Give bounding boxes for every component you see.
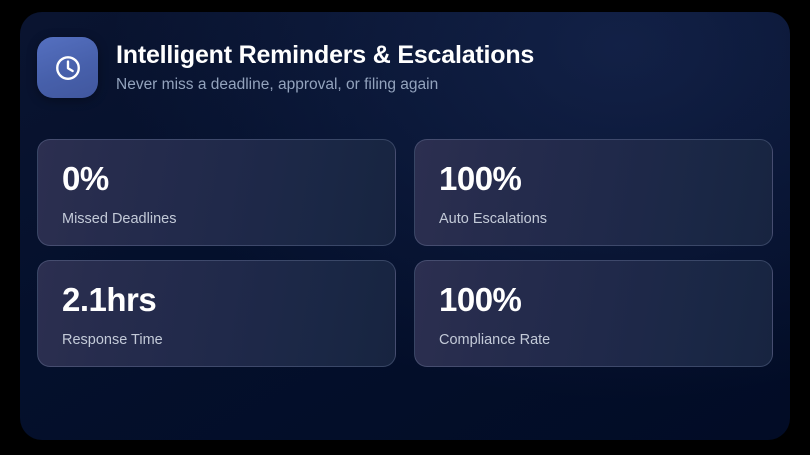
screen: Intelligent Reminders & Escalations Neve… xyxy=(0,0,810,455)
stat-card-missed-deadlines[interactable]: 0% Missed Deadlines xyxy=(37,139,396,246)
page-subtitle: Never miss a deadline, approval, or fili… xyxy=(116,76,534,95)
header-text-block: Intelligent Reminders & Escalations Neve… xyxy=(116,37,534,94)
stats-grid: 0% Missed Deadlines 100% Auto Escalation… xyxy=(37,139,773,367)
panel-header: Intelligent Reminders & Escalations Neve… xyxy=(37,37,534,98)
stat-label: Compliance Rate xyxy=(439,332,772,349)
stat-card-response-time[interactable]: 2.1hrs Response Time xyxy=(37,260,396,367)
stat-label: Auto Escalations xyxy=(439,211,772,228)
stat-card-compliance-rate[interactable]: 100% Compliance Rate xyxy=(414,260,773,367)
stat-value: 100% xyxy=(439,283,772,316)
stat-value: 100% xyxy=(439,162,772,195)
feature-panel: Intelligent Reminders & Escalations Neve… xyxy=(20,12,790,440)
stat-label: Missed Deadlines xyxy=(62,211,395,228)
stat-value: 0% xyxy=(62,162,395,195)
stat-label: Response Time xyxy=(62,332,395,349)
stat-value: 2.1hrs xyxy=(62,283,395,316)
stat-card-auto-escalations[interactable]: 100% Auto Escalations xyxy=(414,139,773,246)
page-title: Intelligent Reminders & Escalations xyxy=(116,41,534,70)
clock-icon xyxy=(37,37,98,98)
